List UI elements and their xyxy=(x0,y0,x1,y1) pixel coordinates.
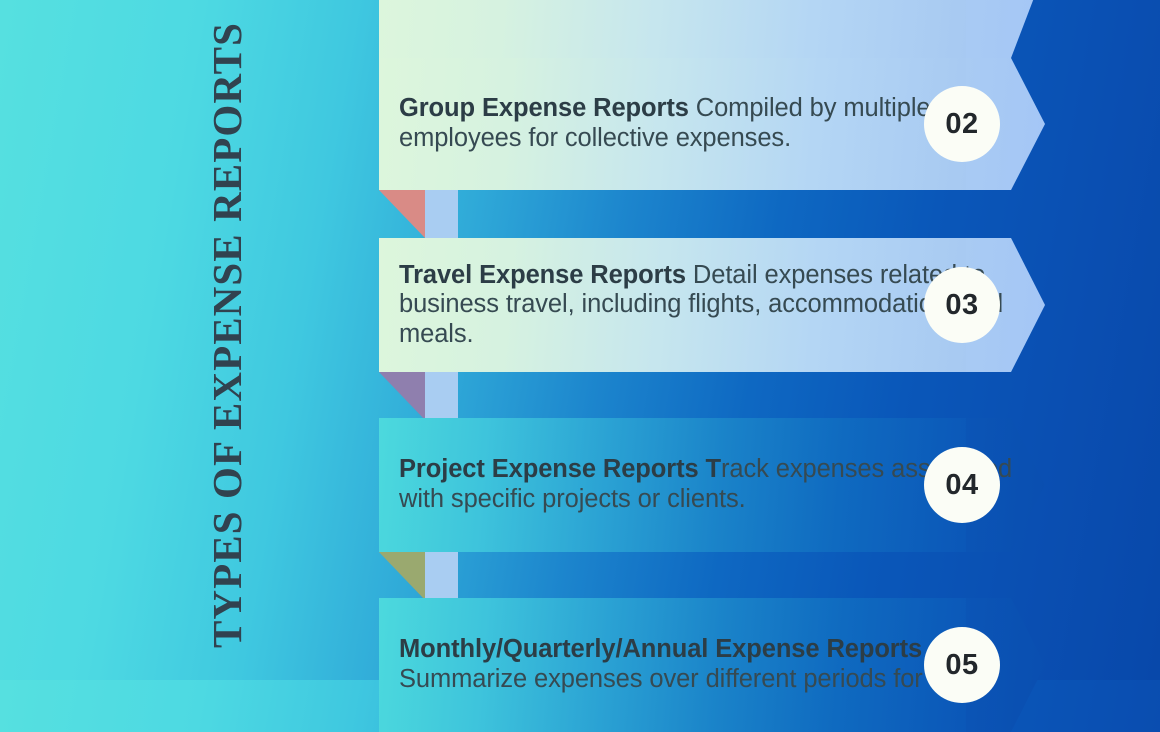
connector-triangle xyxy=(379,552,425,600)
step-number-badge: 04 xyxy=(924,447,1000,523)
connector-triangle xyxy=(379,372,425,420)
connector-tab xyxy=(425,190,458,238)
step-number-badge: 03 xyxy=(924,267,1000,343)
card-arrow-head xyxy=(966,0,1045,58)
card-title: Travel Expense Reports xyxy=(399,261,686,289)
card-title: Monthly/Quarterly/Annual Expense Reports xyxy=(399,635,922,663)
title-rail: TYPES OF EXPENSE REPORTS xyxy=(0,0,370,680)
step-number-badge: 02 xyxy=(924,86,1000,162)
card-body-text: Summarize expenses over different period… xyxy=(399,665,923,693)
expense-report-card[interactable] xyxy=(379,0,1045,58)
card-body xyxy=(379,0,966,58)
step-number-badge: 05 xyxy=(924,627,1000,703)
card-title: Group Expense Reports xyxy=(399,94,689,122)
card-title: Project Expense Reports T xyxy=(399,455,721,483)
connector-tab xyxy=(425,552,458,600)
page-title: TYPES OF EXPENSE REPORTS xyxy=(207,22,248,648)
connector-triangle xyxy=(379,190,425,238)
connector-tab xyxy=(425,372,458,420)
